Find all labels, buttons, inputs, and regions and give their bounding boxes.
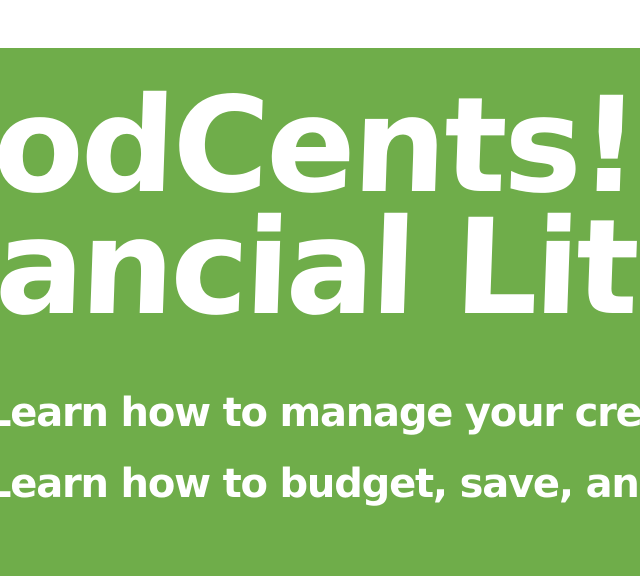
headline-line-2: nancial Literacy [0,196,640,318]
top-white-strip [0,0,640,48]
banner-page: oodCents! nancial Literacy Learn how to … [0,0,640,576]
subtitle-line-budget-save-invest: Learn how to budget, save, and inves [0,449,640,520]
headline-block: oodCents! nancial Literacy [0,60,640,318]
headline-line-1: oodCents! [0,60,640,196]
subtitle-line-credit-score: Learn how to manage your credit sco [0,378,640,449]
subtitle-block: Learn how to manage your credit sco Lear… [0,378,640,520]
hero-panel: oodCents! nancial Literacy Learn how to … [0,48,640,576]
